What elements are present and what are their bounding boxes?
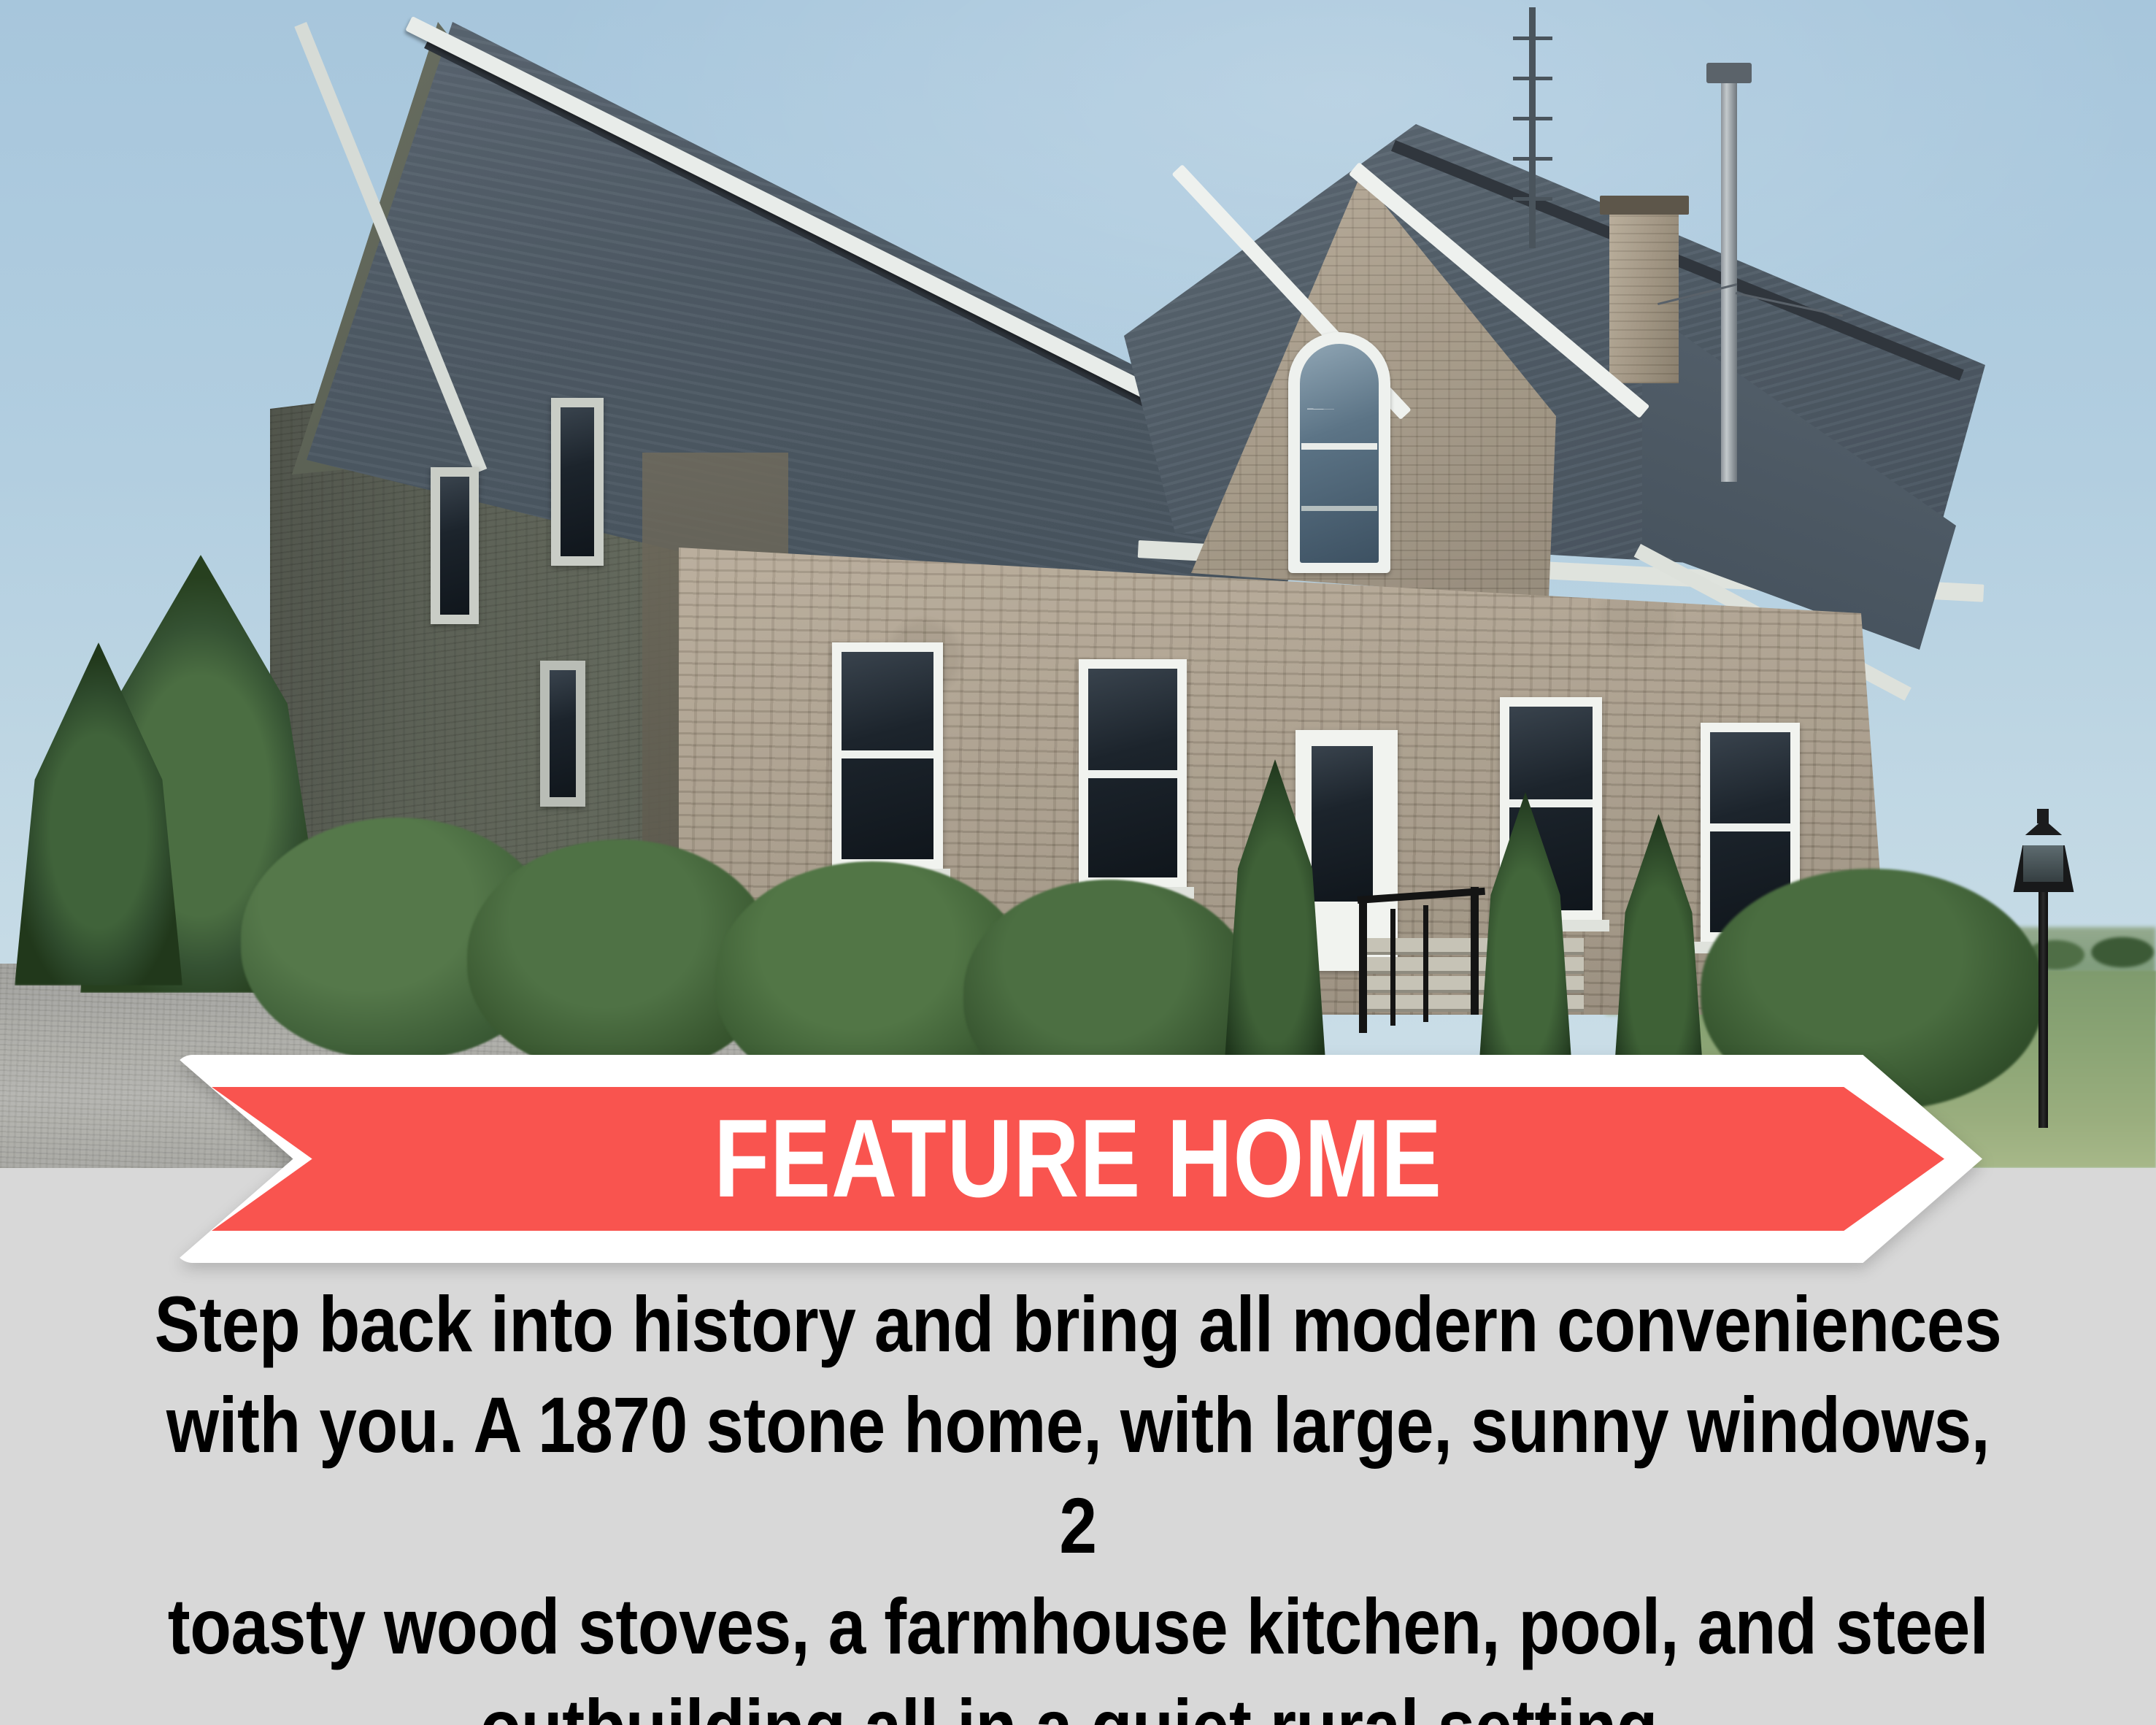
gable-window-bottom bbox=[540, 661, 585, 807]
chimney bbox=[1609, 204, 1679, 383]
ribbon-title: FEATURE HOME bbox=[336, 1091, 1820, 1226]
window-glass bbox=[440, 477, 469, 615]
window-fan-muntins bbox=[1307, 351, 1371, 410]
lamp-finial bbox=[2037, 809, 2049, 823]
lamp-post bbox=[2038, 887, 2048, 1128]
handrail-post-right bbox=[1471, 887, 1479, 1015]
lamp-glass bbox=[2023, 845, 2063, 882]
window-glass bbox=[550, 670, 576, 797]
caption-line-4: outbuilding all in a quiet rural setting… bbox=[151, 1677, 2005, 1725]
dormer-arched-window bbox=[1288, 332, 1390, 573]
brick-texture bbox=[1609, 204, 1679, 383]
facade-window-1 bbox=[832, 642, 943, 869]
window-muntin bbox=[842, 750, 933, 758]
gable-window-upper bbox=[551, 398, 604, 566]
property-photo bbox=[0, 0, 2156, 1168]
window-muntin bbox=[1710, 823, 1790, 831]
caption-line-2: with you. A 1870 stone home, with large,… bbox=[151, 1375, 2005, 1576]
facade-window-2 bbox=[1079, 659, 1187, 887]
caption-line-3: toasty wood stoves, a farmhouse kitchen,… bbox=[151, 1576, 2005, 1677]
handrail-baluster bbox=[1423, 905, 1428, 1022]
caption-line-1: Step back into history and bring all mod… bbox=[151, 1274, 2005, 1375]
window-muntin bbox=[1301, 506, 1377, 511]
handrail-baluster bbox=[1390, 909, 1395, 1026]
handrail-post-left bbox=[1359, 898, 1367, 1033]
antenna-mast bbox=[1529, 7, 1536, 248]
window-muntin bbox=[1088, 770, 1177, 778]
door-glass bbox=[1312, 746, 1373, 902]
feature-home-flyer: FEATURE HOME Step back into history and … bbox=[0, 0, 2156, 1725]
window-muntin bbox=[1301, 443, 1377, 450]
property-description: Step back into history and bring all mod… bbox=[0, 1274, 2156, 1725]
gable-window-lower-left bbox=[431, 467, 479, 624]
window-glass bbox=[561, 407, 594, 556]
feature-home-ribbon: FEATURE HOME bbox=[174, 1055, 1982, 1263]
chimney-cap bbox=[1600, 196, 1689, 215]
stove-pipe bbox=[1721, 73, 1737, 482]
stove-pipe-cap bbox=[1706, 63, 1752, 83]
